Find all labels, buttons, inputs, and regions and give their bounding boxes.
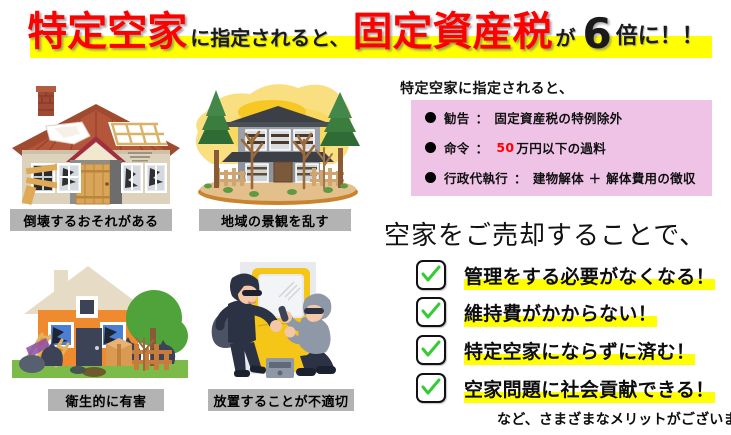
title-part-shitei: に指定されると、	[187, 28, 352, 48]
caption-unsanitary: 衛生的に有害	[48, 389, 164, 411]
checkbox-checked-icon	[416, 373, 446, 403]
checkbox-checked-icon	[416, 335, 446, 365]
penalty-label: 勧告	[444, 108, 470, 127]
penalty-panel-heading: 特定空家に指定されると、	[400, 78, 573, 98]
caption-damaged-house: 倒壊するおそれがある	[10, 209, 172, 231]
unsanitary-house-illustration	[12, 252, 188, 382]
benefit-text-wrap: 特定空家にならずに済む！	[464, 337, 695, 364]
penalty-row-daishikkou: 行政代執行 ： 建物解体 ＋ 解体費用の徴収	[425, 168, 696, 187]
penalty-separator: ：	[508, 168, 533, 187]
benefit-label: 管理をする必要がなくなる！	[464, 266, 715, 288]
penalty-text: 固定資産税の特例除外	[494, 108, 622, 127]
benefit-item-4: 空家問題に社会貢献できる！	[416, 371, 715, 405]
checkbox-checked-icon	[416, 297, 446, 327]
title-part-bai: 倍に！！	[616, 26, 704, 48]
penalty-row-meirei: 命令 ： 50 万円以下の過料	[425, 138, 606, 157]
benefit-text-wrap: 管理をする必要がなくなる！	[464, 262, 715, 289]
bullet-icon	[425, 142, 436, 153]
caption-inappropriate-neglect: 放置することが不適切	[208, 389, 354, 411]
penalty-text: 万円以下の過料	[516, 138, 606, 157]
penalty-separator: ：	[470, 138, 495, 157]
burglary-illustration	[196, 252, 364, 382]
benefit-label: 空家問題に社会貢献できる！	[464, 379, 715, 401]
benefit-item-2: 維持費がかからない！	[416, 295, 657, 329]
caption-landscape-disorder: 地域の景観を乱す	[199, 209, 351, 231]
infographic-root: 特定空家 に指定されると、 固定資産税 が 6 倍に！！	[0, 0, 731, 435]
page-title: 特定空家 に指定されると、 固定資産税 が 6 倍に！！	[0, 0, 731, 64]
penalty-panel: 勧告 ： 固定資産税の特例除外 命令 ： 50 万円以下の過料 行政代執行 ： …	[411, 100, 712, 196]
title-part-tokutei-akiya: 特定空家	[27, 12, 187, 52]
title-part-ga: が	[552, 28, 578, 48]
penalty-row-kankoku: 勧告 ： 固定資産税の特例除外	[425, 108, 622, 127]
benefits-heading: 空家をご売却することで、	[384, 215, 706, 252]
benefit-item-1: 管理をする必要がなくなる！	[416, 258, 715, 292]
title-multiplier: 6	[578, 13, 615, 55]
bullet-icon	[425, 112, 436, 123]
benefit-item-3: 特定空家にならずに済む！	[416, 333, 695, 367]
penalty-label: 命令	[444, 138, 470, 157]
penalty-separator: ：	[470, 108, 495, 127]
penalty-amount: 50	[494, 140, 516, 155]
benefit-text-wrap: 空家問題に社会貢献できる！	[464, 375, 715, 402]
benefit-label: 特定空家にならずに済む！	[464, 341, 695, 363]
penalty-text: 建物解体 ＋ 解体費用の徴収	[533, 168, 696, 187]
checkbox-checked-icon	[416, 260, 446, 290]
penalty-label: 行政代執行	[444, 168, 508, 187]
benefit-text-wrap: 維持費がかからない！	[464, 299, 657, 326]
bullet-icon	[425, 172, 436, 183]
abandoned-house-illustration	[192, 82, 364, 206]
benefit-label: 維持費がかからない！	[464, 303, 657, 325]
damaged-house-illustration	[8, 82, 184, 206]
title-part-koteishisanzei: 固定資産税	[352, 12, 552, 52]
benefits-tagline: など、さまざまなメリットがございます！	[497, 409, 731, 429]
